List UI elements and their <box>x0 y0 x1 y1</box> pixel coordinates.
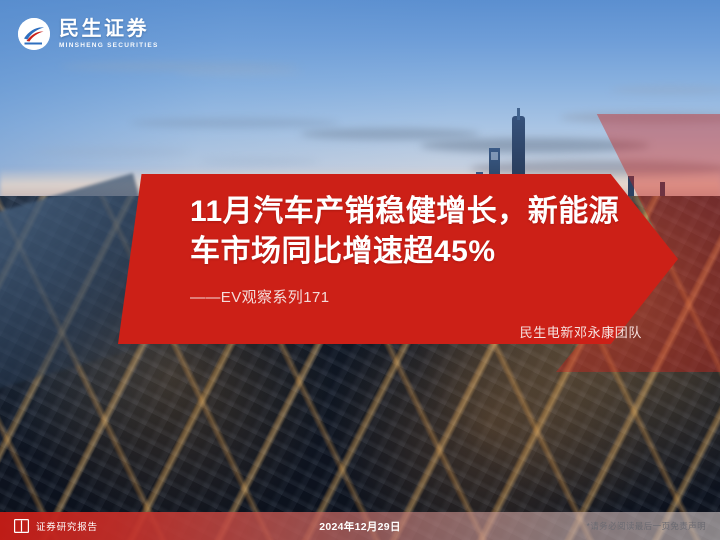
footer-date: 2024年12月29日 <box>254 519 466 534</box>
footer-bar: 证券研究报告 2024年12月29日 *请务必阅读最后一页免责声明 <box>0 512 720 540</box>
page-title-line-2: 车市场同比增速超45% <box>190 235 496 268</box>
cloud-streak <box>175 70 305 76</box>
logo-wordmark: 民生证券 MINSHENG SECURITIES <box>59 19 159 50</box>
minsheng-swoosh-icon <box>18 18 50 50</box>
cloud-streak <box>130 118 340 128</box>
cloud-streak <box>30 148 190 156</box>
open-book-icon <box>14 519 29 533</box>
cloud-streak <box>610 86 720 94</box>
footer-report-type: 证券研究报告 <box>0 519 254 533</box>
company-logo: 民生证券 MINSHENG SECURITIES <box>18 18 159 50</box>
footer-report-type-label: 证券研究报告 <box>36 519 98 533</box>
page-title-line-1: 11月汽车产销稳健增长，新能源 <box>190 195 619 228</box>
logo-name-en: MINSHENG SECURITIES <box>59 43 159 50</box>
logo-name-cn: 民生证券 <box>59 19 159 39</box>
footer-disclaimer: *请务必阅读最后一页免责声明 <box>466 520 720 532</box>
cloud-streak <box>300 128 480 140</box>
world-financial-center-aperture <box>491 152 498 160</box>
report-cover-slide: 民生证券 MINSHENG SECURITIES 11月汽车产销稳健增长，新能源… <box>0 0 720 540</box>
page-title: 11月汽车产销稳健增长，新能源 车市场同比增速超45% <box>190 192 660 272</box>
title-block: 11月汽车产销稳健增长，新能源 车市场同比增速超45% ——EV观察系列171 … <box>190 192 660 342</box>
cloud-streak <box>200 158 320 165</box>
shanghai-tower-spire <box>517 108 520 120</box>
research-team-label: 民生电新邓永康团队 <box>520 322 642 341</box>
page-subtitle: ——EV观察系列171 <box>190 286 660 307</box>
